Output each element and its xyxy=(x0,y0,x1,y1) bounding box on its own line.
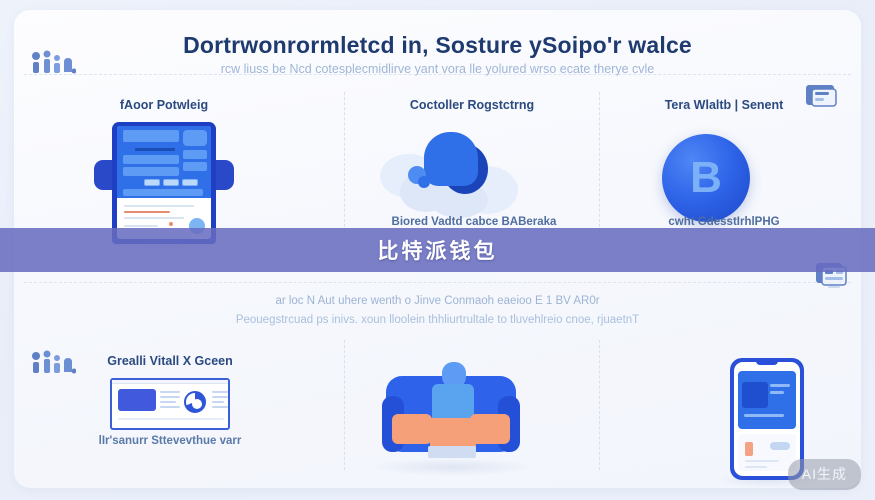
browser-line xyxy=(160,396,180,398)
phone-screen xyxy=(734,362,800,476)
browser-line xyxy=(212,396,228,398)
column-divider-1 xyxy=(344,92,345,232)
top-column-2-caption: Biored Vadtd cabce BABeraka xyxy=(334,216,614,228)
tablet-ui-block xyxy=(123,130,179,142)
tablet-screen xyxy=(117,126,211,239)
top-column-2-title: Coctoller Rogstctrng xyxy=(352,98,592,112)
cloud-puff-blue xyxy=(424,132,478,186)
section-divider xyxy=(24,282,851,283)
tablet-ui-block xyxy=(183,150,207,159)
tablet-ui-button xyxy=(144,179,160,186)
tablet-ui-line xyxy=(124,225,158,227)
bottom-column-1-caption: lIr'sanurr Sttevevthue varr xyxy=(50,435,290,447)
phone-ui-line xyxy=(770,384,790,387)
overlay-banner: 比特派钱包 xyxy=(0,228,875,272)
phone-ui-block xyxy=(742,382,768,408)
browser-titlebar xyxy=(112,380,228,384)
phone-ui-line xyxy=(744,414,784,417)
people-group-icon xyxy=(30,350,76,376)
pie-chart-icon xyxy=(184,391,206,413)
person-leg-right xyxy=(470,414,510,444)
coin-b-icon: B xyxy=(662,134,750,222)
tablet-ui-line xyxy=(124,217,184,219)
phone-ui-pill xyxy=(770,442,790,450)
top-column-3-caption: cwht GdesstIrhlPHG xyxy=(609,216,839,228)
tablet-ui-button xyxy=(182,179,198,186)
mid-text-line-2: Peouegstrcuad ps inivs. xoun lloolein th… xyxy=(14,314,861,326)
ai-generated-badge: AI生成 xyxy=(788,459,861,490)
header-divider xyxy=(24,74,851,75)
phone-ui-line xyxy=(745,460,779,462)
page-title: Dortrwonrormletcd in, Sosture ySoipo'r w… xyxy=(14,32,861,59)
phone-lower-panel xyxy=(738,434,796,471)
phone-ui-line xyxy=(770,391,784,394)
browser-line xyxy=(212,406,228,408)
pie-chart-center xyxy=(192,399,202,409)
tablet-device-icon xyxy=(84,122,244,244)
browser-line xyxy=(118,418,224,420)
tablet-ear-right xyxy=(216,160,234,190)
column-divider-2 xyxy=(599,92,600,232)
browser-line xyxy=(160,401,176,403)
browser-line xyxy=(212,391,228,393)
person-leg-left xyxy=(392,414,432,444)
tablet-ui-dot xyxy=(169,222,173,226)
card-window-icon xyxy=(804,82,840,112)
tablet-ui-block xyxy=(183,162,207,171)
tablet-ui-block xyxy=(183,130,207,146)
browser-chart-icon xyxy=(110,378,230,430)
browser-content-block xyxy=(118,389,156,411)
tablet-ui-block xyxy=(123,167,179,176)
phone-notch xyxy=(756,360,778,365)
bottom-column-1-title: Grealli Vitall X Gceen xyxy=(80,354,260,368)
browser-line xyxy=(212,401,224,403)
screenshot-root: Dortrwonrormletcd in, Sosture ySoipo'r w… xyxy=(0,0,875,500)
tablet-ui-button xyxy=(163,179,179,186)
coin-letter: B xyxy=(690,156,722,200)
column-divider-4 xyxy=(599,340,600,470)
top-column-1-title: fAoor Potwleig xyxy=(64,98,264,112)
column-divider-3 xyxy=(344,340,345,470)
tablet-ui-line xyxy=(135,148,175,151)
browser-line xyxy=(160,391,180,393)
people-group-icon xyxy=(30,50,76,76)
phone-ui-chip xyxy=(745,442,753,456)
tablet-ui-block xyxy=(123,189,203,196)
tablet-ui-line xyxy=(124,211,170,213)
tablet-ear-left xyxy=(94,160,112,190)
person-laptop-icon xyxy=(386,362,516,466)
cloud-puff-blue xyxy=(418,176,430,188)
tablet-ui-block xyxy=(123,155,179,164)
phone-ui-line xyxy=(745,466,767,468)
cloud-icon xyxy=(380,126,530,222)
laptop-screen xyxy=(428,446,476,458)
browser-line xyxy=(160,406,180,408)
tablet-ui-line xyxy=(124,205,194,207)
mid-text-line-1: ar loc N Aut uhere wenth o Jinve Conmaoh… xyxy=(14,295,861,307)
overlay-banner-text: 比特派钱包 xyxy=(378,235,498,265)
